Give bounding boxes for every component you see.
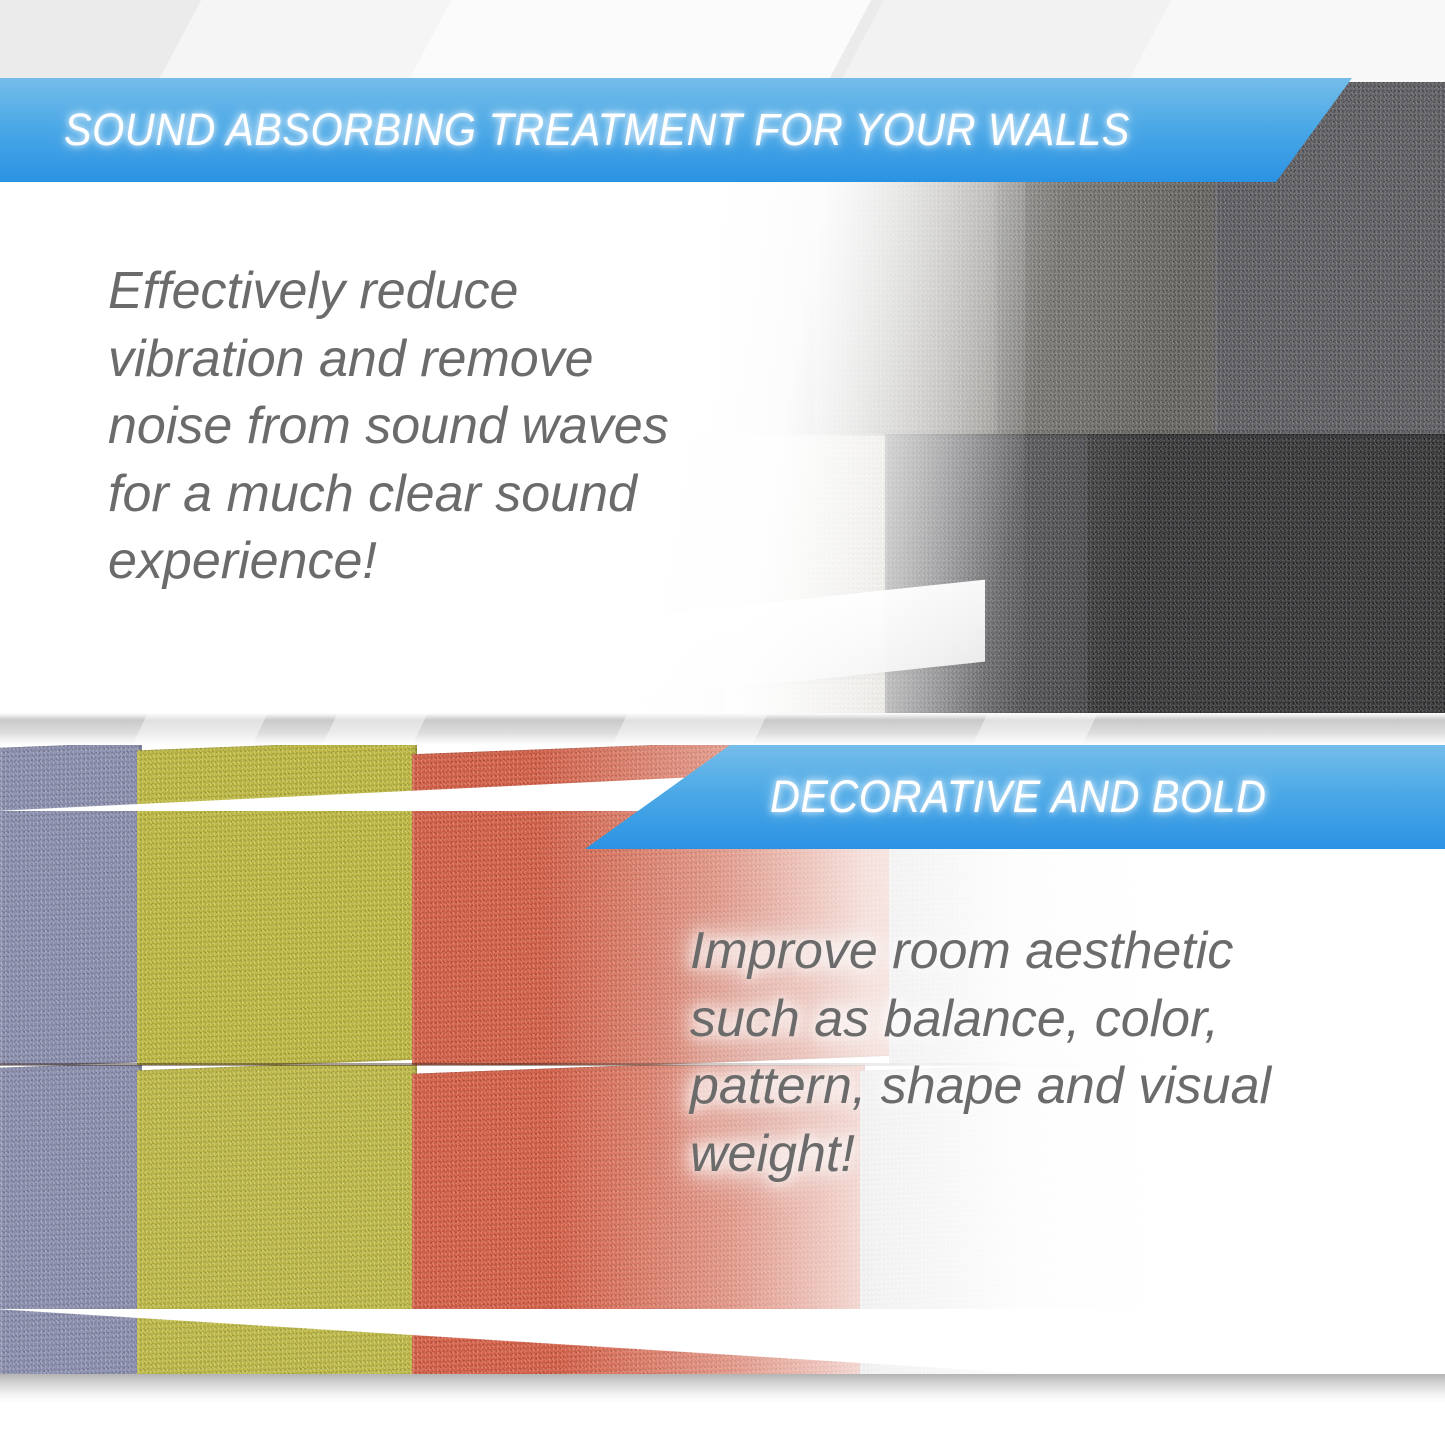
bottom-banner-heading: DECORATIVE AND BOLD <box>770 771 1266 823</box>
top-feature-section: SOUND ABSORBING TREATMENT FOR YOUR WALLS… <box>0 0 1445 715</box>
section-divider <box>0 713 1445 745</box>
bottom-banner: DECORATIVE AND BOLD <box>585 745 1445 849</box>
divider-shape-2 <box>322 713 428 745</box>
top-banner-heading: SOUND ABSORBING TREATMENT FOR YOUR WALLS <box>64 104 1130 156</box>
top-banner: SOUND ABSORBING TREATMENT FOR YOUR WALLS <box>0 78 1352 182</box>
divider-shape-1 <box>132 713 268 745</box>
divider-shape-3 <box>612 713 768 745</box>
footer-fade-strip <box>0 1374 1445 1402</box>
infographic-canvas: SOUND ABSORBING TREATMENT FOR YOUR WALLS… <box>0 0 1445 1445</box>
bottom-body-text: Improve room aesthetic such as balance, … <box>690 918 1380 1188</box>
geo-shape-2 <box>372 0 909 82</box>
divider-shape-4 <box>972 713 1098 745</box>
header-geometric-strip <box>0 0 1445 82</box>
top-body-text: Effectively reduce vibration and remove … <box>108 258 788 596</box>
